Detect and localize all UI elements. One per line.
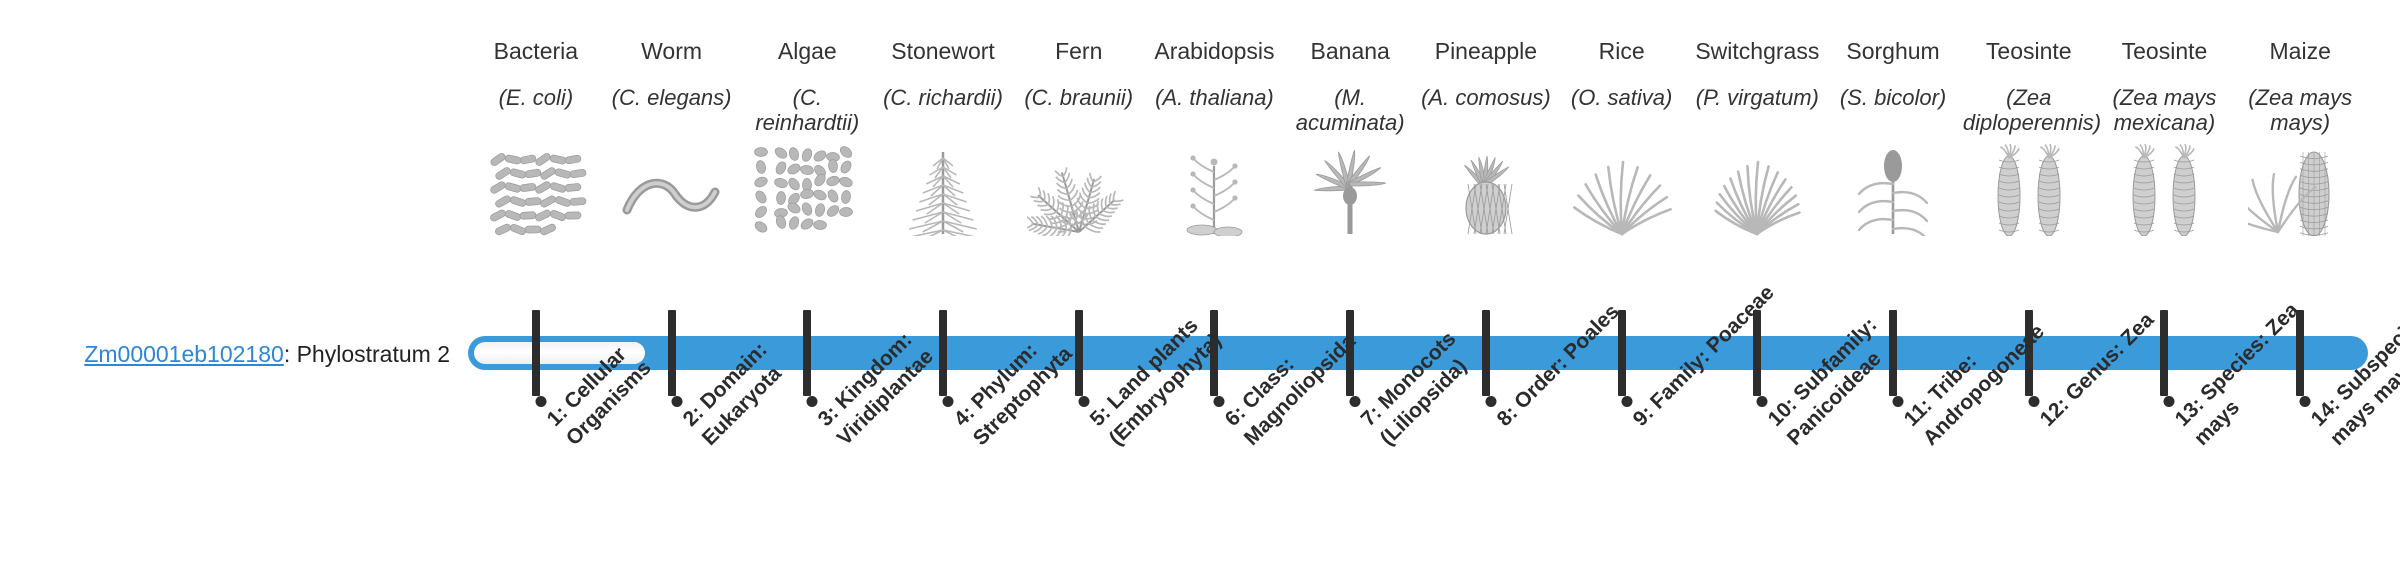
rank-label: 14: Subspecies: Zea mays mays <box>2300 396 2310 406</box>
species-scientific-name: (E. coli) <box>468 86 604 140</box>
fern-sketch-icon <box>1020 144 1138 236</box>
species-scientific-name: (Zea mays mays) <box>2232 86 2368 140</box>
rank-labels: 1: Cellular Organisms2: Domain: Eukaryot… <box>468 396 2368 580</box>
species-common-name: Teosinte <box>2122 38 2208 72</box>
species-scientific-name: (Zea diploperennis) <box>1961 86 2097 140</box>
species-common-name: Maize <box>2270 38 2331 72</box>
rank-dot <box>1893 396 1904 407</box>
pineapple-sketch-icon <box>1427 144 1545 236</box>
species-column: Maize(Zea mays mays) <box>2232 0 2368 236</box>
species-scientific-name: (M. acuminata) <box>1282 86 1418 140</box>
rank-dot <box>535 396 546 407</box>
rank-dot <box>943 396 954 407</box>
species-common-name: Fern <box>1055 38 1102 72</box>
species-common-name: Rice <box>1599 38 1645 72</box>
species-column: Algae(C. reinhardtii) <box>739 0 875 236</box>
rank-dot <box>1485 396 1496 407</box>
species-common-name: Bacteria <box>494 38 578 72</box>
rank-dot <box>1078 396 1089 407</box>
species-column: Worm(C. elegans) <box>604 0 740 236</box>
species-column: Stonewort(C. richardii) <box>875 0 1011 236</box>
rank-label: 12: Genus: Zea <box>2029 396 2039 406</box>
gene-phylostratum-label: Zm00001eb102180: Phylostratum 2 <box>40 340 450 369</box>
species-common-name: Algae <box>778 38 837 72</box>
rank-label: 9: Family: Poaceae <box>1622 396 1632 406</box>
species-scientific-name: (C. braunii) <box>1011 86 1147 140</box>
bacteria-sketch-icon <box>477 144 595 236</box>
species-column: Teosinte(Zea diploperennis) <box>1961 0 2097 236</box>
species-column: Switchgrass(P. virgatum) <box>1689 0 1825 236</box>
species-common-name: Teosinte <box>1986 38 2072 72</box>
rank-dot <box>671 396 682 407</box>
species-scientific-name: (Zea mays mexicana) <box>2097 86 2233 140</box>
species-scientific-name: (C. elegans) <box>604 86 740 140</box>
species-column: Fern(C. braunii) <box>1011 0 1147 236</box>
species-column: Teosinte(Zea mays mexicana) <box>2097 0 2233 236</box>
maize-sketch-icon <box>2241 144 2359 236</box>
species-scientific-name: (S. bicolor) <box>1825 86 1961 140</box>
species-scientific-name: (O. sativa) <box>1554 86 1690 140</box>
gene-label-separator: : <box>284 341 297 367</box>
teosinte-diploperennis-sketch-icon <box>1970 144 2088 236</box>
arabidopsis-sketch-icon <box>1155 144 1273 236</box>
rank-label: 7: Monocots (Liliopsida) <box>1350 396 1360 406</box>
sorghum-sketch-icon <box>1834 144 1952 236</box>
species-column: Rice(O. sativa) <box>1554 0 1690 236</box>
rank-dot <box>2164 396 2175 407</box>
species-common-name: Sorghum <box>1846 38 1939 72</box>
species-common-name: Banana <box>1311 38 1390 72</box>
rice-sketch-icon <box>1563 144 1681 236</box>
teosinte-mexicana-sketch-icon <box>2105 144 2223 236</box>
stonewort-sketch-icon <box>884 144 1002 236</box>
rank-label: 8: Order: Poales <box>1486 396 1496 406</box>
species-column: Arabidopsis(A. thaliana) <box>1147 0 1283 236</box>
rank-dot <box>2028 396 2039 407</box>
rank-label: 2: Domain: Eukaryota <box>672 396 682 406</box>
species-common-name: Switchgrass <box>1695 38 1819 72</box>
species-column: Sorghum(S. bicolor) <box>1825 0 1961 236</box>
species-common-name: Stonewort <box>891 38 995 72</box>
species-columns: Bacteria(E. coli)Worm(C. elegans) Algae(… <box>468 0 2368 320</box>
rank-label: 11: Tribe: Andropogoneae <box>1893 396 1903 406</box>
tick-mark <box>532 310 540 396</box>
species-scientific-name: (A. thaliana) <box>1147 86 1283 140</box>
rank-label: 4: Phylum: Streptophyta <box>943 396 953 406</box>
switchgrass-sketch-icon <box>1698 144 1816 236</box>
rank-dot <box>1214 396 1225 407</box>
rank-label: 13: Species: Zea mays <box>2164 396 2174 406</box>
rank-dot <box>2300 396 2311 407</box>
gene-id-link[interactable]: Zm00001eb102180 <box>84 341 284 367</box>
banana-sketch-icon <box>1291 144 1409 236</box>
species-common-name: Worm <box>641 38 702 72</box>
species-column: Pineapple(A. comosus) <box>1418 0 1554 236</box>
species-scientific-name: (C. richardii) <box>875 86 1011 140</box>
phylostratum-timeline: Zm00001eb102180: Phylostratum 2 Bacteria… <box>0 0 2400 580</box>
worm-sketch-icon <box>613 144 731 236</box>
species-common-name: Arabidopsis <box>1154 38 1274 72</box>
species-column: Bacteria(E. coli) <box>468 0 604 236</box>
rank-label: 1: Cellular Organisms <box>536 396 546 406</box>
species-scientific-name: (P. virgatum) <box>1689 86 1825 140</box>
rank-label: 3: Kingdom: Viridiplantae <box>807 396 817 406</box>
algae-sketch-icon <box>748 144 866 236</box>
rank-dot <box>1350 396 1361 407</box>
species-common-name: Pineapple <box>1435 38 1537 72</box>
species-scientific-name: (A. comosus) <box>1418 86 1554 140</box>
species-scientific-name: (C. reinhardtii) <box>739 86 875 140</box>
species-column: Banana(M. acuminata) <box>1282 0 1418 236</box>
rank-label: 6: Class: Magnoliopsida <box>1214 396 1224 406</box>
phylostratum-value: Phylostratum 2 <box>297 341 450 367</box>
rank-dot <box>807 396 818 407</box>
rank-dot <box>1621 396 1632 407</box>
rank-label: 10: Subfamily: Panicoideae <box>1757 396 1767 406</box>
rank-label: 5: Land plants (Embryophyta) <box>1079 396 1089 406</box>
rank-dot <box>1757 396 1768 407</box>
